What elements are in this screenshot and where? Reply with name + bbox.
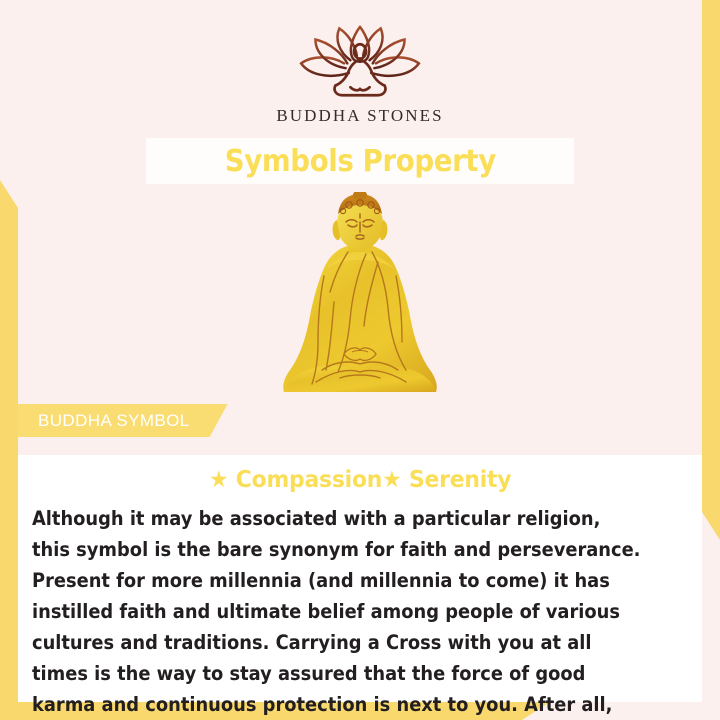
- page-title: Symbols Property: [224, 144, 495, 179]
- decor-left-yellow-band: [0, 180, 18, 720]
- status-badge: BUDDHA SYMBOL: [18, 404, 228, 437]
- lotus-meditation-icon: [280, 22, 440, 100]
- brand-logo: BUDDHA STONES: [276, 22, 443, 126]
- brand-name: BUDDHA STONES: [276, 106, 443, 126]
- content-tagline: ★ Compassion★ Serenity: [209, 467, 511, 493]
- infographic-page: BUDDHA STONES Symbols Property: [0, 0, 720, 720]
- seated-golden-buddha-illustration: [260, 192, 460, 412]
- badge-label: BUDDHA SYMBOL: [38, 411, 190, 431]
- content-card: ★ Compassion★ Serenity Although it may b…: [18, 455, 702, 702]
- title-banner: Symbols Property: [146, 138, 574, 184]
- decor-right-yellow-band: [702, 0, 720, 540]
- header-section: BUDDHA STONES Symbols Property: [18, 0, 702, 455]
- hero-image-wrap: [260, 192, 460, 412]
- content-paragraph: Although it may be associated with a par…: [32, 503, 642, 720]
